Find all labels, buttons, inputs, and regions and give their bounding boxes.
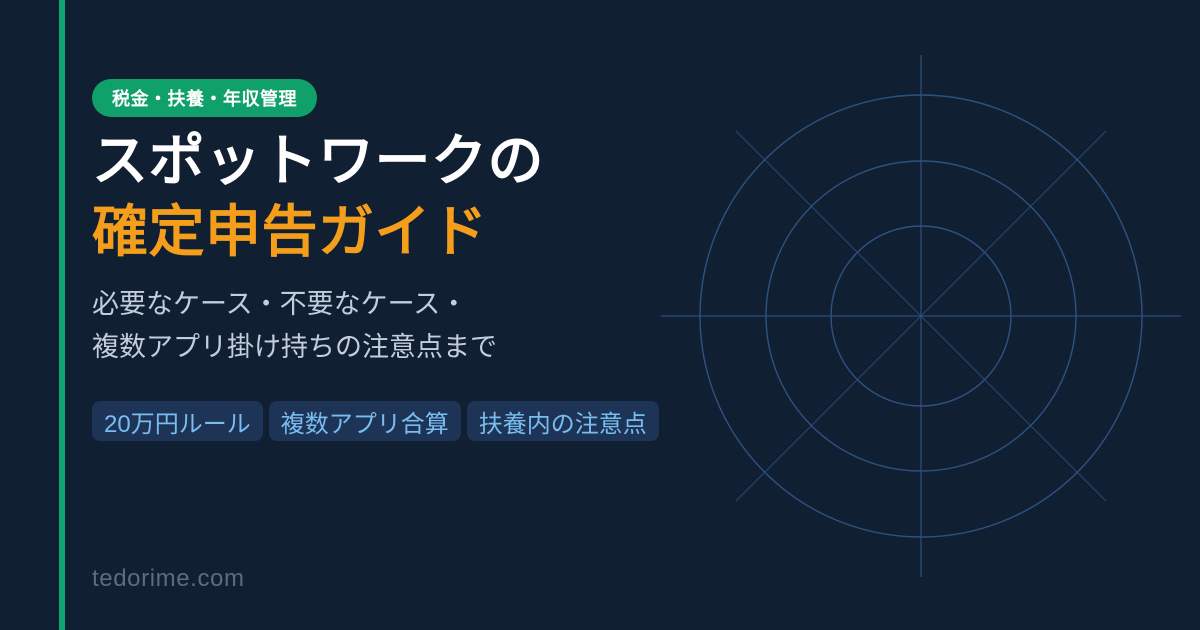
keyword-chip-1: 20万円ルール [92,401,263,441]
subtitle-line-2: 複数アプリ掛け持ちの注意点まで [92,326,652,369]
site-domain: tedorime.com [92,565,245,593]
subtitle-line-1: 必要なケース・不要なケース・ [92,283,652,326]
radar-rings-graphic [640,0,1200,630]
keyword-chip-2: 複数アプリ合算 [269,401,461,441]
radar-diagonal-nwse [736,131,1106,501]
page-title: スポットワークの 確定申告ガイド [92,126,692,267]
radar-diagonal-nesw [736,131,1106,501]
keyword-chip-list: 20万円ルール 複数アプリ合算 扶養内の注意点 [92,401,659,441]
left-accent-bar [59,0,65,630]
keyword-chip-3: 扶養内の注意点 [467,401,659,441]
content-column: 税金・扶養・年収管理 スポットワークの 確定申告ガイド 必要なケース・不要なケー… [92,0,672,630]
radar-ring-inner [831,226,1011,406]
og-card: 税金・扶養・年収管理 スポットワークの 確定申告ガイド 必要なケース・不要なケー… [0,0,1200,630]
radar-ring-outer [700,95,1142,537]
title-line-2: 確定申告ガイド [92,197,692,268]
page-subtitle: 必要なケース・不要なケース・ 複数アプリ掛け持ちの注意点まで [92,283,652,369]
radar-ring-middle [766,161,1076,471]
category-badge: 税金・扶養・年収管理 [92,79,317,117]
title-line-1: スポットワークの [92,126,692,197]
